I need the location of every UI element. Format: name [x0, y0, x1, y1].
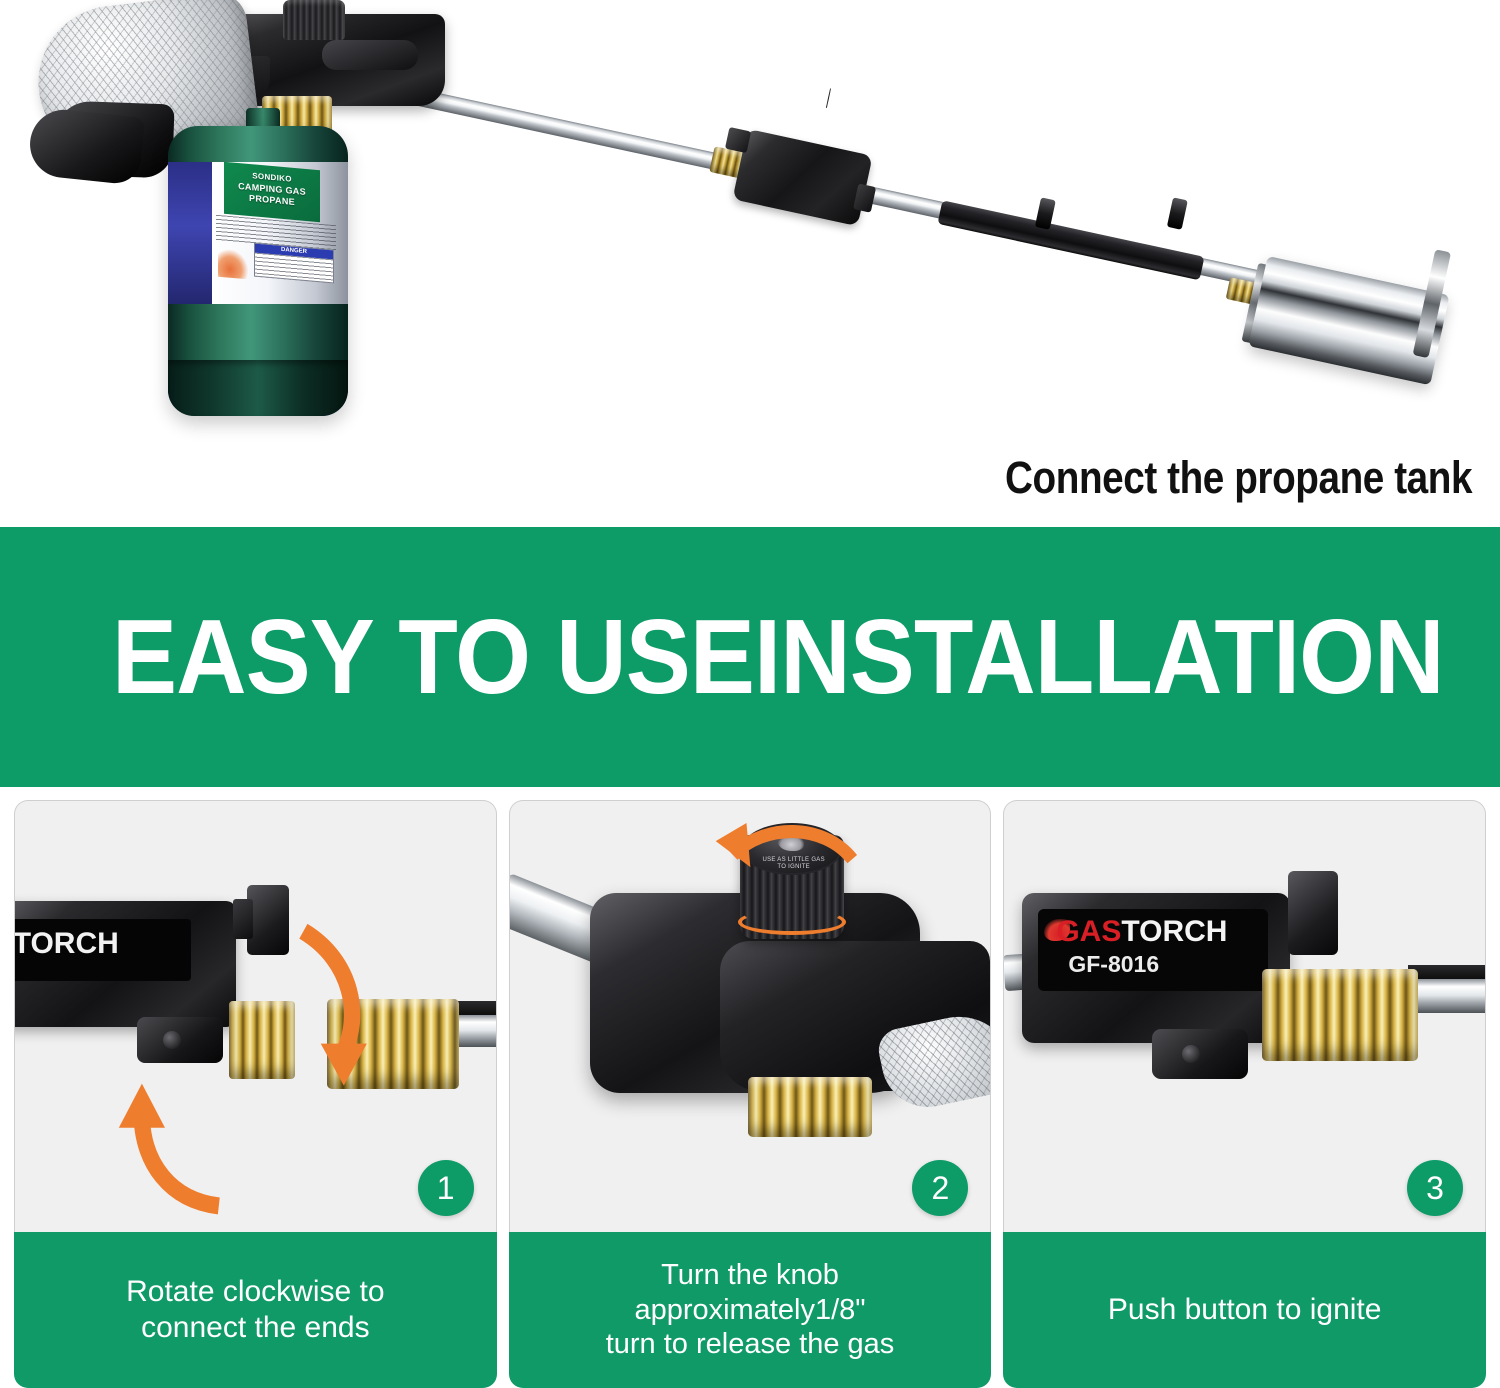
step-3-caption: Push button to ignite: [1003, 1232, 1486, 1388]
logo-torch-text: TORCH: [14, 927, 119, 960]
silver-rod: [455, 1015, 497, 1047]
step-3-photo: GASTORCH GF-8016 3: [1003, 800, 1486, 1232]
knob-text-line-1: USE AS LITTLE GAS: [748, 857, 840, 864]
flame-warning-icon: [218, 249, 248, 280]
knob-orange-ring: [738, 909, 846, 935]
housing-foot: [137, 1017, 223, 1063]
ignition-button[interactable]: [1288, 871, 1338, 955]
label-blue-band: [168, 162, 212, 304]
caption-line: Rotate clockwise to: [126, 1274, 384, 1310]
logo-gas-text: GAS: [1056, 915, 1121, 948]
brand-plate: ASTORCH 016: [14, 919, 191, 981]
shaft-sleeve: [826, 88, 831, 108]
tank-base: [168, 360, 348, 416]
step-badge-2: 2: [912, 1160, 968, 1216]
torch-product-photo: SONDIKO CAMPING GAS PROPANE DANGER NET W…: [0, 0, 1500, 470]
step-2-photo: USE AS LITTLE GAS TO IGNITE 2: [509, 800, 992, 1232]
logo-torch-text: TORCH: [1121, 915, 1227, 948]
arrow-up-head: [119, 1084, 165, 1128]
hero-section: SONDIKO CAMPING GAS PROPANE DANGER NET W…: [0, 0, 1500, 527]
model-number: GF-8016: [1068, 951, 1159, 978]
gastorch-logo: ASTORCH: [14, 927, 119, 961]
step-badge-3: 3: [1407, 1160, 1463, 1216]
gastorch-logo: GASTORCH: [1056, 915, 1227, 949]
brass-tank-nut: [748, 1077, 872, 1137]
caption-line: Push button to ignite: [1108, 1292, 1382, 1328]
step-1-photo: ASTORCH 016 1: [14, 800, 497, 1232]
banner: EASY TO USEINSTALLATION: [0, 527, 1500, 787]
knob-instruction-text: USE AS LITTLE GAS TO IGNITE: [748, 857, 840, 871]
step-badge-1: 1: [418, 1160, 474, 1216]
brass-coupling: [1262, 969, 1418, 1061]
silver-rod: [1408, 979, 1486, 1013]
rubber-grip-sleeve: [937, 200, 1204, 280]
danger-box: DANGER: [254, 243, 334, 284]
grip-hook: [27, 106, 145, 185]
mounting-tab: [247, 885, 289, 955]
step-1-caption: Rotate clockwise to connect the ends: [14, 1232, 497, 1388]
arrow-up-curve: [142, 1120, 219, 1206]
caption-line: connect the ends: [141, 1310, 370, 1346]
hero-title: Connect the propane tank: [1005, 452, 1472, 504]
knob-top-face[interactable]: USE AS LITTLE GAS TO IGNITE: [742, 823, 842, 875]
brand-plate: GASTORCH GF-8016: [1038, 909, 1268, 991]
step-card-1: ASTORCH 016 1 Rotate clockwise to connec…: [14, 800, 497, 1388]
grip-ring-b: [1167, 197, 1188, 229]
caption-line: approximately1/8": [634, 1293, 865, 1328]
label-brand-block: SONDIKO CAMPING GAS PROPANE: [224, 162, 320, 222]
step-card-2: USE AS LITTLE GAS TO IGNITE 2 Turn the k…: [509, 800, 992, 1388]
step-card-3: GASTORCH GF-8016 3 Push button to ignite: [1003, 800, 1486, 1388]
knob-flame-icon: [778, 835, 804, 851]
torch-head-housing: ASTORCH 016: [14, 901, 236, 1027]
brass-fitting-female: [229, 1001, 295, 1079]
caption-line: turn to release the gas: [606, 1327, 895, 1362]
steps-row: ASTORCH 016 1 Rotate clockwise to connec…: [0, 800, 1500, 1388]
banner-headline: EASY TO USEINSTALLATION: [112, 597, 1444, 718]
propane-tank: SONDIKO CAMPING GAS PROPANE DANGER NET W…: [168, 126, 348, 416]
caption-line: Turn the knob: [661, 1258, 839, 1293]
knob-text-line-2: TO IGNITE: [748, 864, 840, 871]
brass-fitting-male: [327, 999, 459, 1089]
step-2-caption: Turn the knob approximately1/8" turn to …: [509, 1232, 992, 1388]
tank-label: SONDIKO CAMPING GAS PROPANE DANGER: [168, 162, 348, 304]
regulator-box: [732, 129, 872, 226]
housing-foot: [1152, 1029, 1248, 1079]
igniter-housing: GASTORCH GF-8016: [1022, 893, 1290, 1043]
handle-top-knob: [283, 0, 345, 40]
